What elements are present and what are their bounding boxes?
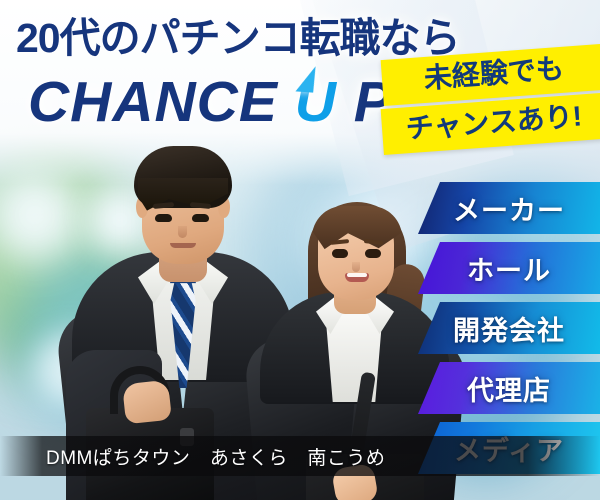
- chance-up-logo: CHANCE U P: [28, 74, 393, 131]
- category-label: メーカー: [453, 189, 565, 228]
- category-button-agency[interactable]: 代理店: [418, 362, 600, 414]
- hand: [122, 380, 172, 425]
- status-badge: 未経験でも チャンスあり!: [382, 52, 600, 147]
- recruitment-banner: 20代のパチンコ転職なら CHANCE U P 未経験でも チャンスあり! メー…: [0, 0, 600, 500]
- mouth: [170, 243, 196, 248]
- category-button-maker[interactable]: メーカー: [418, 182, 600, 234]
- eye-left: [155, 214, 172, 222]
- mouth: [345, 273, 369, 282]
- caption-text: DMMぱちタウン あさくら 南こうめ: [0, 443, 385, 470]
- caption-bar: DMMぱちタウン あさくら 南こうめ: [0, 436, 600, 476]
- category-button-hall[interactable]: ホール: [418, 242, 600, 294]
- category-label: ホール: [467, 249, 551, 288]
- category-label: 代理店: [467, 369, 551, 408]
- nose: [352, 262, 360, 272]
- logo-u: U: [295, 70, 354, 134]
- nose: [178, 226, 187, 238]
- eye-right: [192, 214, 209, 222]
- category-button-development[interactable]: 開発会社: [418, 302, 600, 354]
- eye-left: [332, 249, 348, 258]
- logo-chance: CHANCE: [28, 70, 278, 134]
- category-label: 開発会社: [453, 309, 565, 348]
- eye-right: [365, 249, 381, 258]
